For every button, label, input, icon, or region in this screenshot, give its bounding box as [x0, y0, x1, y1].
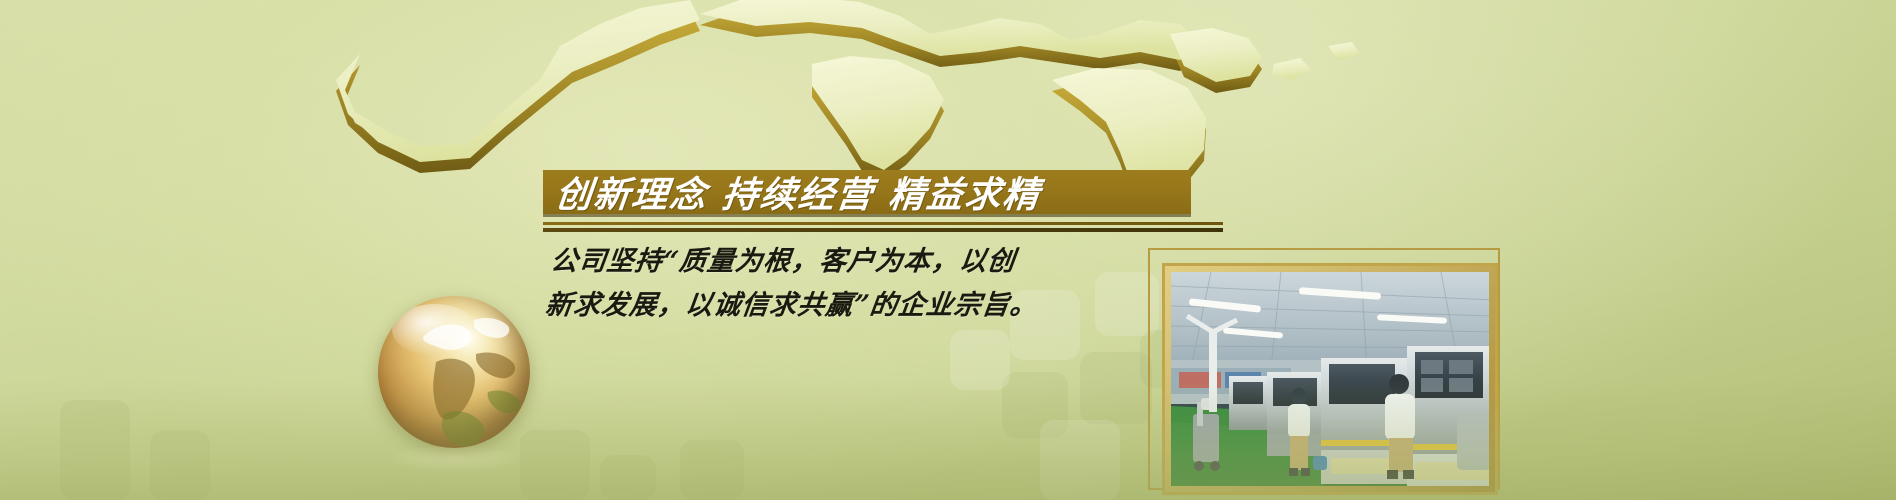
watermark-square [950, 330, 1010, 390]
slogan-line-1: 公司坚持“质量为根，客户为本，以创 [548, 240, 1173, 284]
bottom-fade-overlay [0, 380, 1896, 500]
globe-reflection [388, 446, 520, 472]
slogan-line-2: 新求发展，以诚信求共赢”的企业宗旨。 [543, 284, 1168, 328]
watermark-square [680, 440, 744, 500]
watermark-square [1040, 420, 1120, 500]
divider-rule-bottom [543, 228, 1223, 232]
company-banner: 创新理念 持续经营 精益求精 公司坚持“质量为根，客户为本，以创 新求发展，以诚… [0, 0, 1896, 500]
photo-frame-inner [1162, 263, 1498, 495]
factory-photo-illustration [1171, 272, 1489, 486]
watermark-square [150, 430, 210, 500]
watermark-square [600, 455, 656, 500]
watermark-square [1080, 352, 1152, 424]
globe-highlight [392, 304, 478, 356]
divider-rule-top [543, 222, 1223, 225]
slogan-paragraph: 公司坚持“质量为根，客户为本，以创 新求发展，以诚信求共赢”的企业宗旨。 [543, 240, 1174, 328]
factory-workshop-photo [1171, 272, 1489, 486]
headline-text: 创新理念 持续经营 精益求精 [553, 168, 1198, 216]
globe-sphere [378, 296, 530, 448]
watermark-square [1002, 372, 1068, 438]
watermark-square [60, 400, 130, 500]
globe-graphic [378, 296, 538, 472]
